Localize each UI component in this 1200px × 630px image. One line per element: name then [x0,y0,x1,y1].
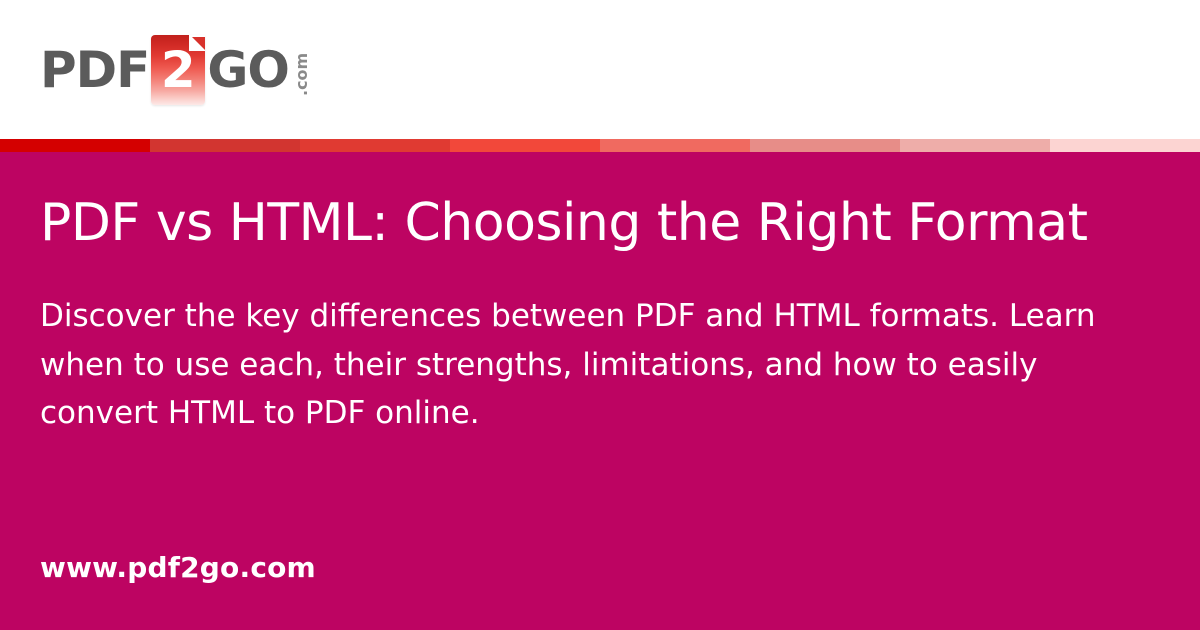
stripe-segment-1 [0,139,150,152]
pdf2go-logo[interactable]: PDF 2 GO .com [40,34,311,106]
page-description: Discover the key differences between PDF… [40,252,1155,437]
stripe-segment-8 [1050,139,1200,152]
document-icon: 2 [151,35,205,105]
stripe-segment-5 [600,139,750,152]
stripe-segment-3 [300,139,450,152]
page-title: PDF vs HTML: Choosing the Right Format [40,152,1150,252]
stripe-segment-6 [750,139,900,152]
og-card: PDF 2 GO .com PDF vs HTML: Choosing the … [0,0,1200,630]
logo-text-pdf: PDF [40,45,149,95]
stripe-segment-2 [150,139,300,152]
logo-text-go: GO [207,45,289,95]
main-content: PDF vs HTML: Choosing the Right Format D… [0,152,1200,630]
gradient-stripe [0,139,1200,152]
logo-badge-number: 2 [151,45,205,95]
logo-text-tld: .com [292,44,311,96]
header: PDF 2 GO .com [0,0,1200,139]
stripe-segment-4 [450,139,600,152]
site-url[interactable]: www.pdf2go.com [40,554,316,582]
stripe-segment-7 [900,139,1050,152]
